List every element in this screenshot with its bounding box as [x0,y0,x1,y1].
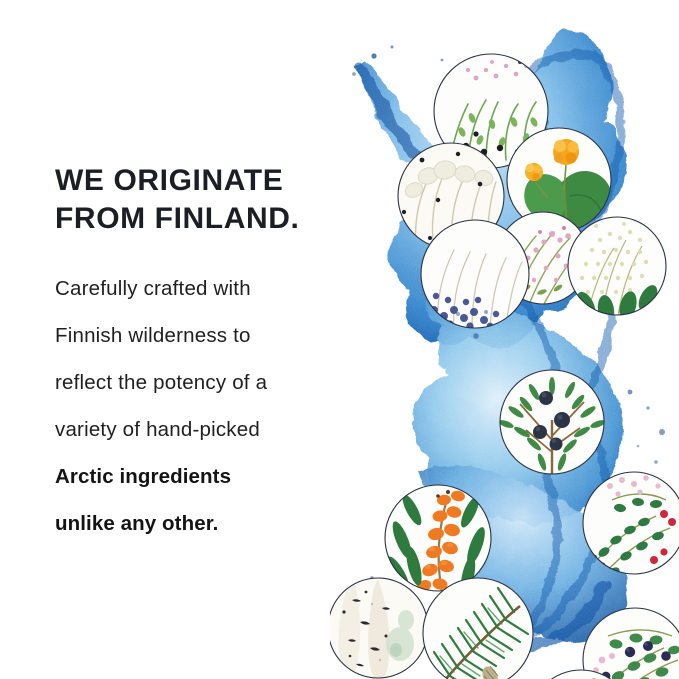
body-line: reflect the potency of a [55,359,365,406]
body-line: Carefully crafted with [55,265,365,312]
copy-block: WE ORIGINATE FROM FINLAND. Carefully cra… [55,163,365,547]
body-line: Finnish wilderness to [55,312,365,359]
botanical-circle-pine [423,578,533,679]
poster-canvas: WE ORIGINATE FROM FINLAND. Carefully cra… [0,0,679,679]
body-copy: Carefully crafted with Finnish wildernes… [55,265,365,547]
botanical-circle-meadowsweet [568,217,666,326]
page-title-line-1: WE ORIGINATE [55,163,365,199]
body-line: variety of hand-picked [55,406,365,453]
body-line-emphasis: Arctic ingredients [55,453,365,500]
botanical-circle-birch-bark [330,578,430,679]
body-line-emphasis: unlike any other. [55,500,365,547]
page-title-line-2: FROM FINLAND. [55,201,365,237]
finland-map-illustration [330,0,679,679]
